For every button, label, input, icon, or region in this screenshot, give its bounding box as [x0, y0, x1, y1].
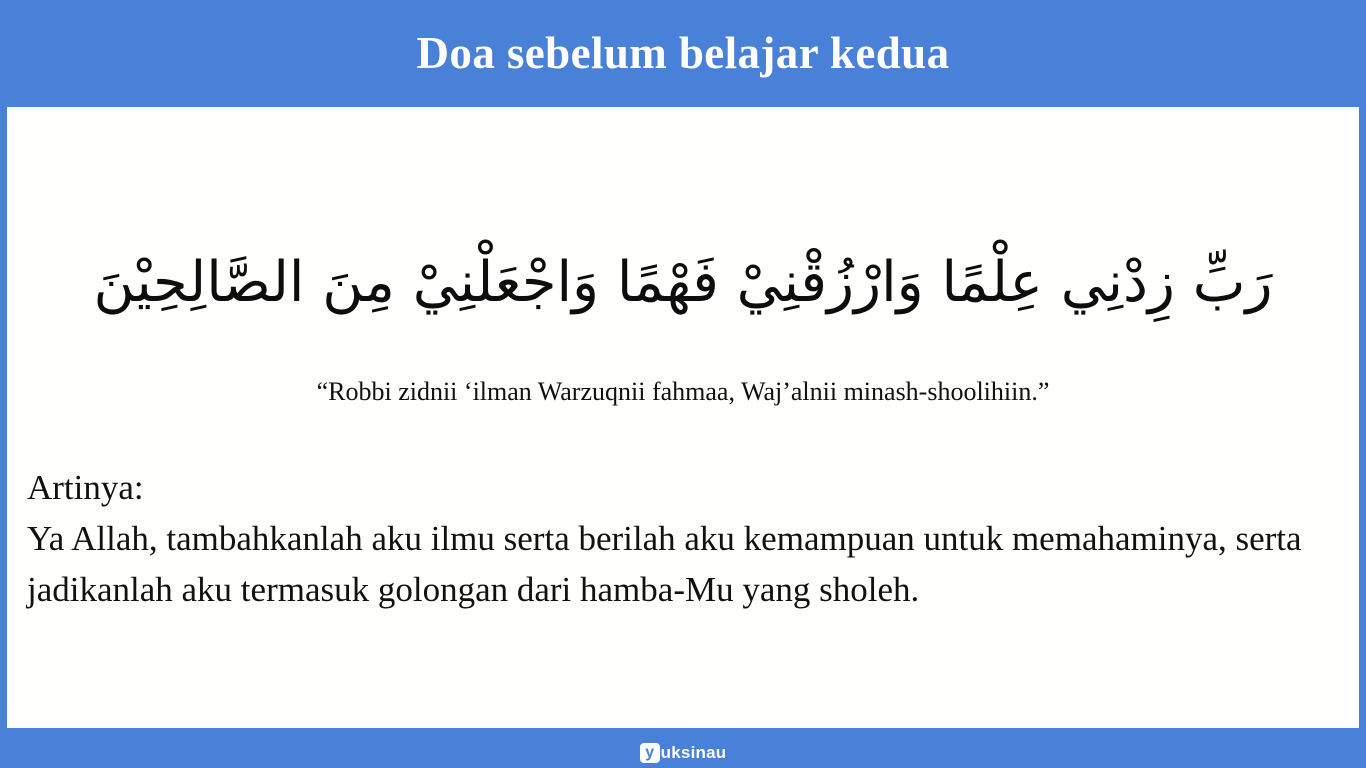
header-band: Doa sebelum belajar kedua [0, 0, 1366, 107]
meaning-block: Artinya: Ya Allah, tambahkanlah aku ilmu… [27, 462, 1319, 615]
meaning-label: Artinya: [27, 462, 1319, 513]
arabic-duaa-text: رَبِّ زِدْنِي عِلْمًا وَارْزُقْنِيْ فَهْ… [7, 235, 1359, 331]
brand-logo: y uksinau [640, 742, 727, 764]
brand-name: uksinau [661, 743, 727, 763]
transliteration-text: “Robbi zidnii ‘ilman Warzuqnii fahmaa, W… [7, 375, 1359, 409]
page-title: Doa sebelum belajar kedua [0, 24, 1366, 82]
brand-mark-icon: y [640, 743, 660, 763]
content-card-inner: رَبِّ زِدْنِي عِلْمًا وَارْزُقْنِيْ فَهْ… [7, 107, 1359, 728]
slide: Doa sebelum belajar kedua رَبِّ زِدْنِي … [0, 0, 1366, 768]
meaning-text: Ya Allah, tambahkanlah aku ilmu serta be… [27, 513, 1319, 615]
footer-bar: y uksinau [0, 728, 1366, 768]
content-card: رَبِّ زِدْنِي عِلْمًا وَارْزُقْنِيْ فَهْ… [7, 107, 1359, 728]
